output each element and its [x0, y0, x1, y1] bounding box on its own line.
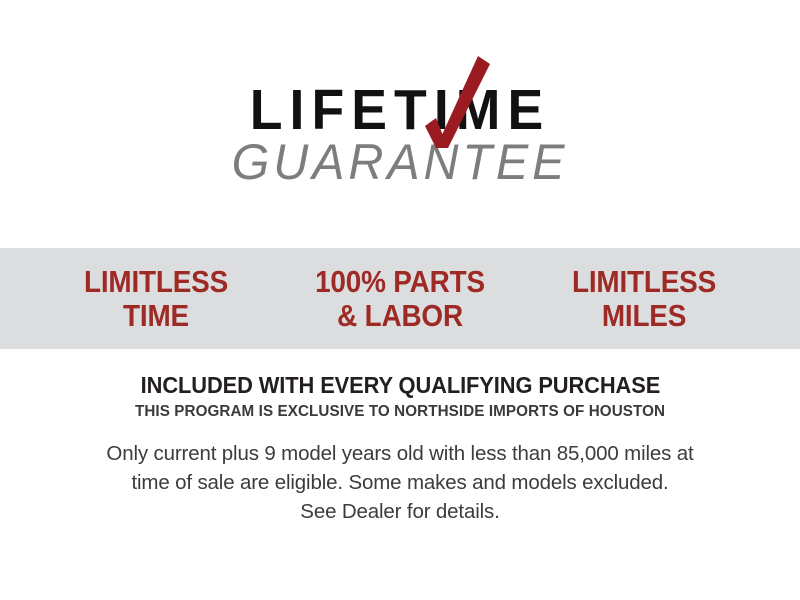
feature-line-1: 100% PARTS: [315, 264, 485, 299]
subheadline: THIS PROGRAM IS EXCLUSIVE TO NORTHSIDE I…: [135, 403, 665, 421]
logo-block: LIFETIME GUARANTEE: [0, 0, 800, 248]
logo-lockup: LIFETIME GUARANTEE: [200, 74, 600, 192]
feature-column-limitless-time: LIMITLESS TIME: [46, 265, 266, 332]
disclaimer-block: INCLUDED WITH EVERY QUALIFYING PURCHASE …: [0, 349, 800, 600]
feature-line-1: LIMITLESS: [84, 264, 228, 299]
logo-word-lifetime: LIFETIME: [212, 82, 588, 139]
feature-line-2: TIME: [46, 299, 266, 332]
fineprint-line: See Dealer for details.: [40, 497, 760, 526]
feature-line-2: & LABOR: [290, 299, 510, 332]
feature-line-2: MILES: [534, 299, 754, 332]
fineprint-line: Only current plus 9 model years old with…: [40, 439, 760, 468]
fineprint-line: time of sale are eligible. Some makes an…: [40, 468, 760, 497]
feature-column-limitless-miles: LIMITLESS MILES: [534, 265, 754, 332]
lifetime-guarantee-ad: LIFETIME GUARANTEE LIMITLESS TIME 100% P…: [0, 0, 800, 600]
fineprint: Only current plus 9 model years old with…: [40, 439, 760, 526]
logo-word-guarantee: GUARANTEE: [206, 137, 594, 187]
feature-column-parts-labor: 100% PARTS & LABOR: [290, 265, 510, 332]
headline: INCLUDED WITH EVERY QUALIFYING PURCHASE: [140, 373, 660, 398]
feature-line-1: LIMITLESS: [572, 264, 716, 299]
feature-band: LIMITLESS TIME 100% PARTS & LABOR LIMITL…: [0, 248, 800, 349]
